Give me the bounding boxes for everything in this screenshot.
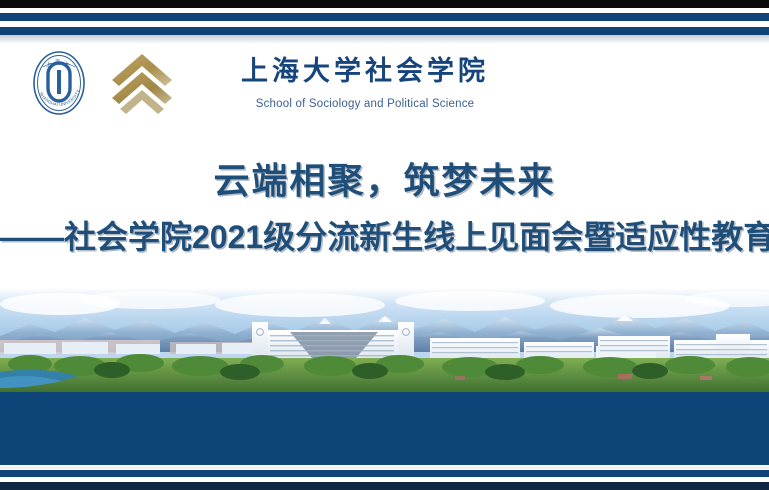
- bottom-rule-black: [0, 482, 769, 490]
- school-name-cn: 上海大学社会学院: [205, 52, 525, 90]
- masthead: 上 海 大 SHANGHAI UNIVERSITY: [0, 44, 769, 128]
- sub-title: ——社会学院2021级分流新生线上见面会暨适应性教育: [0, 212, 769, 258]
- top-rule-black: [0, 0, 769, 8]
- school-name-en: School of Sociology and Political Scienc…: [205, 96, 525, 112]
- top-rule-blue-lower: [0, 27, 769, 35]
- top-rule-blue-upper: [0, 13, 769, 21]
- main-title: 云端相聚，筑梦未来: [0, 152, 769, 204]
- campus-panorama-photo: [0, 288, 769, 392]
- bottom-rule-blue: [0, 470, 769, 477]
- gold-chevron-emblem-icon: [108, 50, 176, 116]
- bottom-blue-block: [0, 392, 769, 465]
- school-name-block: 上海大学社会学院 School of Sociology and Politic…: [205, 52, 525, 112]
- svg-text:上: 上: [46, 61, 51, 68]
- presentation-slide: 上 海 大 SHANGHAI UNIVERSITY: [0, 0, 769, 490]
- svg-text:海: 海: [55, 59, 60, 66]
- title-area: 云端相聚，筑梦未来 ——社会学院2021级分流新生线上见面会暨适应性教育: [0, 140, 769, 285]
- svg-text:大: 大: [64, 61, 69, 68]
- shanghai-university-seal-icon: 上 海 大 SHANGHAI UNIVERSITY: [30, 50, 88, 116]
- top-rule-fade: [0, 35, 769, 44]
